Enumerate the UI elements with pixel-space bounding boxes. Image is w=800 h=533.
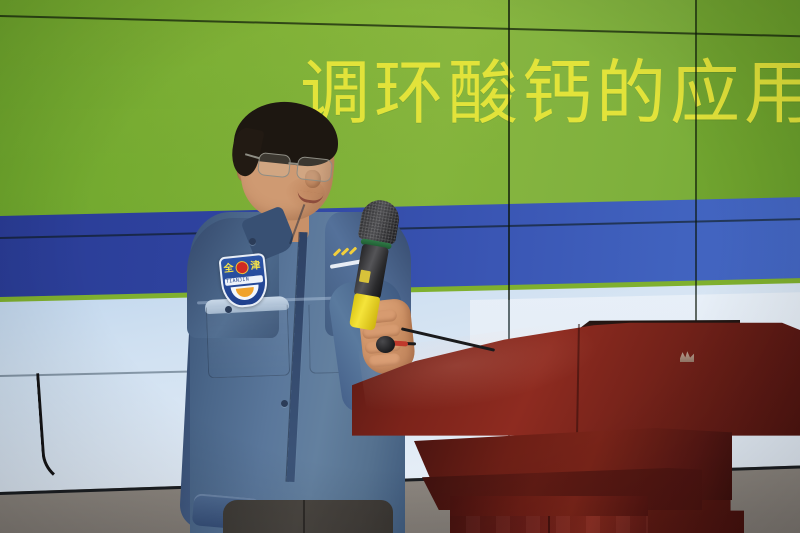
microphone-label [359, 270, 371, 284]
gooseneck-windscreen [376, 336, 395, 353]
patch-char-left: 全 [223, 264, 234, 275]
jacket-button-3 [281, 400, 288, 407]
jacket-button-1 [249, 238, 256, 245]
microphone-body [354, 244, 390, 300]
jacket-pocket-left [206, 305, 290, 379]
trouser-seam [303, 500, 305, 533]
eyeglass-lens-right [296, 156, 333, 183]
gooseneck-stem [401, 327, 495, 352]
podium-gooseneck-microphone [378, 320, 498, 370]
photo-canvas: 调环酸钙的应用原 人年 [0, 0, 800, 533]
podium-column-seam [548, 516, 550, 533]
eyeglass-lens-left [257, 152, 291, 178]
patch-star-icon [236, 262, 248, 274]
jacket-button-2 [225, 306, 232, 313]
patch-char-right: 津 [250, 261, 261, 272]
